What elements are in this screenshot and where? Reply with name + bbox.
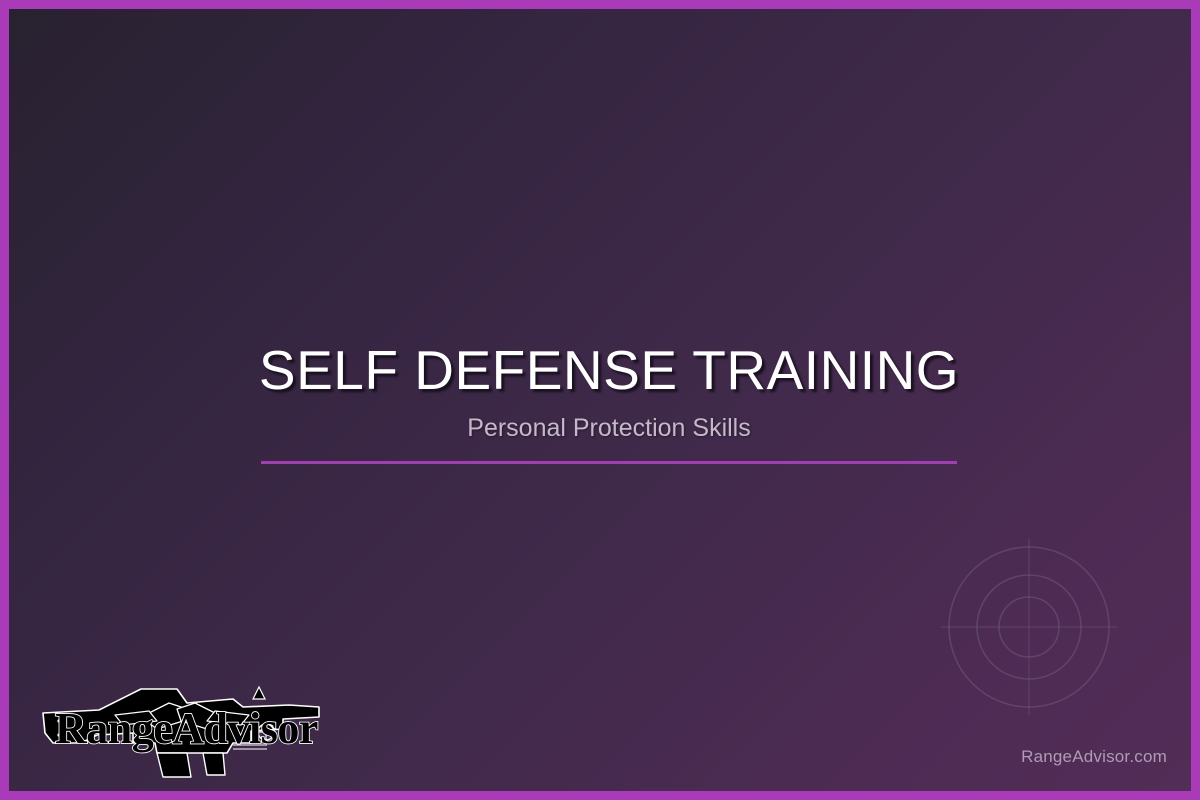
page-subtitle: Personal Protection Skills	[9, 414, 1200, 443]
site-watermark: RangeAdvisor.com	[1021, 747, 1167, 767]
page-title: SELF DEFENSE TRAINING	[9, 341, 1200, 400]
title-block: SELF DEFENSE TRAINING Personal Protectio…	[9, 341, 1200, 443]
title-divider	[261, 461, 957, 464]
rifle-silhouette-icon: RangeAdvisor	[37, 677, 327, 779]
logo-wordmark: RangeAdvisor	[55, 704, 318, 753]
target-crosshair-icon	[932, 530, 1126, 724]
presentation-slide: SELF DEFENSE TRAINING Personal Protectio…	[0, 0, 1200, 800]
